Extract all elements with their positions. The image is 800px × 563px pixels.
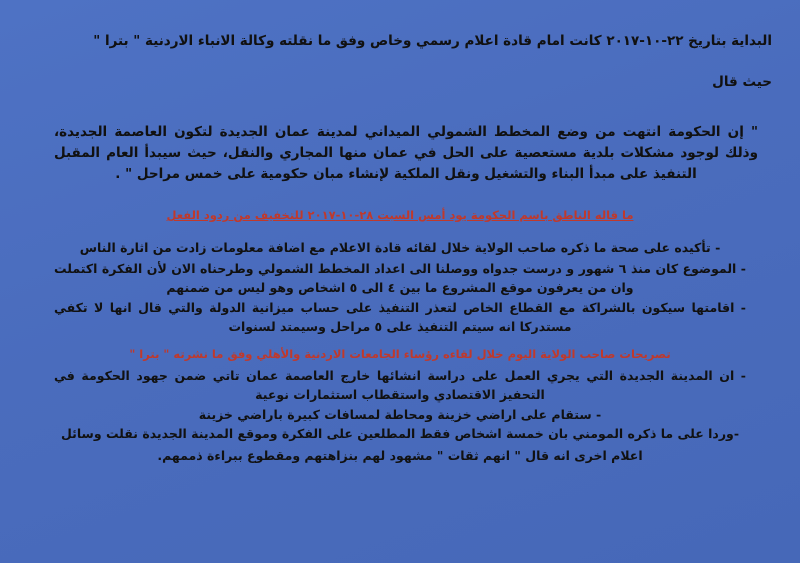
intro-paragraph: البداية بتاريخ ٢٢-١٠-٢٠١٧ كانت امام قادة… — [28, 32, 772, 51]
red-heading-spokesman: ما قاله الناطق باسم الحكومة يود أمس السب… — [28, 207, 772, 223]
bullet-item: - تأكيده على صحة ما ذكره صاحب الولاية خل… — [54, 239, 746, 258]
slide-content: البداية بتاريخ ٢٢-١٠-٢٠١٧ كانت امام قادة… — [0, 0, 800, 476]
slide-canvas: البداية بتاريخ ٢٢-١٠-٢٠١٧ كانت امام قادة… — [0, 0, 800, 563]
bullet-item: - اقامتها سيكون بالشراكة مع القطاع الخاص… — [54, 299, 746, 337]
bullet-list-bottom: - ان المدينة الجديدة التي يجري العمل على… — [28, 367, 772, 444]
bullet-item: - ستقام على اراضي خزينة ومحاطة لمسافات ك… — [54, 406, 746, 425]
bullet-list-top: - تأكيده على صحة ما ذكره صاحب الولاية خل… — [28, 239, 772, 337]
red-heading-statements: تصريحات صاحب الولاية اليوم خلال لقاءه رؤ… — [28, 346, 772, 362]
response-line: -وردا على ما ذكره المومني بان خمسة اشخاص… — [54, 425, 746, 444]
final-line: اعلام اخرى انه قال " انهم ثقات " مشهود ل… — [28, 447, 772, 466]
quote-paragraph: " إن الحكومة انتهت من وضع المخطط الشمولي… — [28, 122, 772, 185]
bullet-item: - الموضوع كان منذ ٦ شهور و درست جدواه وو… — [54, 260, 746, 298]
said-line: حيث قال — [28, 73, 772, 92]
bullet-item: - ان المدينة الجديدة التي يجري العمل على… — [54, 367, 746, 405]
